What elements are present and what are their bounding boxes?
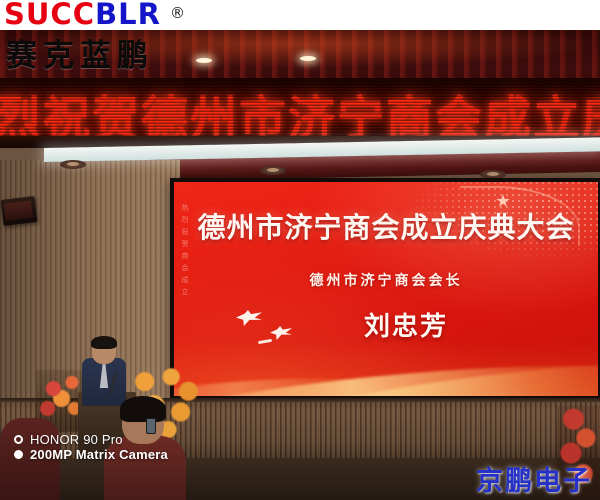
ceiling-spotlight — [300, 56, 316, 61]
audience-hair — [120, 396, 166, 422]
circle-outline-icon — [14, 435, 23, 444]
brand-logo-bar: SUCCBLR ® — [0, 0, 600, 30]
ceiling-spotlight — [196, 58, 212, 63]
brand-wordmark-blue: BLR — [95, 0, 161, 31]
honor-device-name: HONOR 90 Pro — [30, 432, 123, 447]
honor-watermark-row: 200MP Matrix Camera — [14, 447, 168, 461]
led-scrolling-banner: 烈祝贺德州市济宁商会成立庆典 — [0, 78, 600, 136]
wall-speaker-icon — [1, 196, 38, 226]
downlight-icon — [60, 160, 86, 169]
corporate-watermark: 京鹏电子 — [476, 459, 592, 498]
screen-person-name: 刘忠芳 — [174, 306, 598, 343]
honor-camera-spec: 200MP Matrix Camera — [30, 447, 168, 462]
photo-canvas: 烈祝贺德州市济宁商会成立庆典 热烈祝贺商会成立 德州市济宁商会成立庆典大会 德州… — [0, 0, 600, 500]
registered-trademark-icon: ® — [170, 4, 185, 22]
honor-watermark-row: HONOR 90 Pro — [14, 432, 168, 446]
brand-wordmark: SUCCBLR — [4, 0, 161, 31]
led-banner-text: 烈祝贺德州市济宁商会成立庆典 — [0, 80, 600, 136]
brand-wordmark-red: SUCC — [4, 0, 95, 31]
honor-watermark: HONOR 90 Pro 200MP Matrix Camera — [14, 432, 168, 461]
screen-subtitle: 德州市济宁商会会长 — [174, 270, 598, 290]
circle-filled-icon — [14, 450, 23, 459]
stage-led-screen: 热烈祝贺商会成立 德州市济宁商会成立庆典大会 德州市济宁商会会长 刘忠芳 — [174, 182, 598, 396]
screen-title: 德州市济宁商会成立庆典大会 — [174, 206, 598, 246]
brand-chinese-name: 赛克蓝鹏 — [6, 30, 154, 75]
downlight-icon — [260, 166, 286, 175]
presenter-hair — [91, 336, 117, 349]
